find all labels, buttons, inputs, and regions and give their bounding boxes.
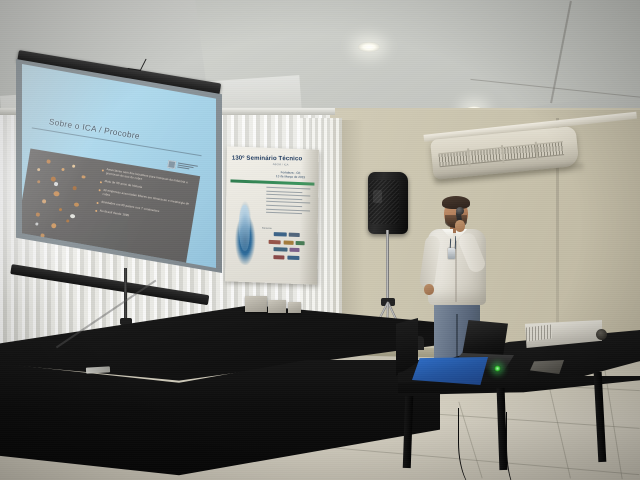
speaker-horn <box>373 190 382 203</box>
banner-sponsors-caption: Patrocínio <box>262 228 272 230</box>
equipment-box-on-stage <box>245 296 267 312</box>
power-cable <box>506 412 534 480</box>
sponsor-logo <box>290 248 300 252</box>
equipment-box-on-stage <box>288 302 301 313</box>
presenter-badge <box>448 248 455 259</box>
screen-hook <box>127 57 146 71</box>
equipment-box-on-stage <box>268 300 286 313</box>
table-leg <box>403 396 414 468</box>
projection-screen: Sobre o ICA / Procobre <box>8 24 226 280</box>
event-rollup-banner: 130º Seminário Técnico ABCM / ICA Fortal… <box>225 146 319 285</box>
sponsor-logo <box>289 233 300 237</box>
sponsor-logo <box>269 239 281 243</box>
stage-front-drape <box>0 360 440 480</box>
air-conditioner <box>430 126 579 180</box>
sponsor-logo <box>283 240 293 244</box>
presenter-hair <box>442 196 470 209</box>
sponsor-logo <box>287 255 299 259</box>
banner-shading <box>299 149 319 285</box>
table-leg <box>594 372 607 462</box>
projector-lens <box>596 329 607 340</box>
sponsor-logo <box>273 247 287 252</box>
sponsor-logo <box>274 255 285 259</box>
ceiling-downlight <box>358 42 380 52</box>
speaker-stand-pole <box>386 230 389 302</box>
banner-flame-graphic <box>229 198 260 265</box>
microphone-head-icon <box>456 207 464 215</box>
banner-subtitle: ABCM / ICA <box>273 163 289 167</box>
paper-on-stage <box>86 366 110 373</box>
video-projector <box>520 314 610 360</box>
stage-platform <box>0 300 440 480</box>
screen-surface: Sobre o ICA / Procobre <box>22 64 216 268</box>
presenter-left-hand <box>424 284 434 295</box>
laptop-power-led-icon <box>494 365 501 372</box>
screen-glare <box>22 64 216 268</box>
presenter-right-hand <box>455 220 465 232</box>
blue-folder-on-table[interactable] <box>412 357 488 385</box>
sponsor-logo <box>273 232 286 236</box>
conference-room-photo: 130º Seminário Técnico ABCM / ICA Fortal… <box>0 0 640 480</box>
power-cable <box>458 408 498 480</box>
